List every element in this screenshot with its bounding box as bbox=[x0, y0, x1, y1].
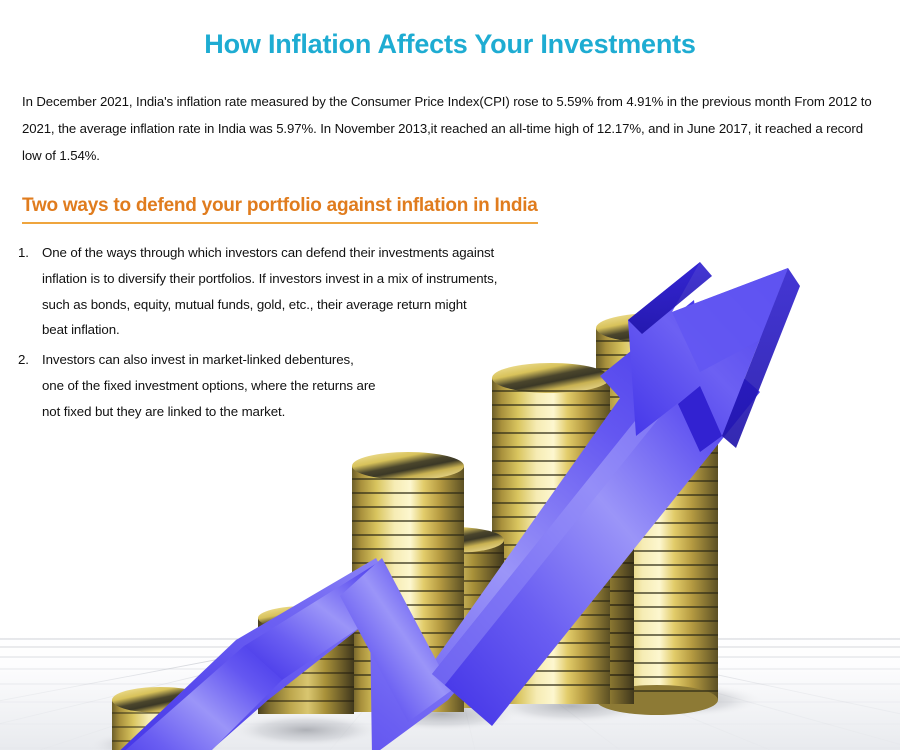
floor-plane bbox=[0, 632, 900, 750]
list-item-marker: 1. bbox=[18, 240, 29, 266]
grid-lines bbox=[0, 634, 900, 750]
intro-paragraph: In December 2021, India's inflation rate… bbox=[0, 60, 900, 169]
list-item-text: One of the ways through which investors … bbox=[42, 240, 640, 344]
content-column: How Inflation Affects Your Investments I… bbox=[0, 0, 900, 425]
coin-stack-4 bbox=[522, 438, 634, 704]
coin-stack-2 bbox=[352, 452, 464, 712]
defense-strategies-list: 1. One of the ways through which investo… bbox=[0, 224, 900, 425]
list-item: 1. One of the ways through which investo… bbox=[0, 240, 640, 344]
section-heading-text: Two ways to defend your portfolio agains… bbox=[22, 195, 538, 224]
floor-group bbox=[0, 632, 900, 750]
list-item: 2. Investors can also invest in market-l… bbox=[0, 347, 640, 425]
coin-stack-2b bbox=[400, 527, 504, 708]
list-item-marker: 2. bbox=[18, 347, 29, 373]
stack-shadows bbox=[86, 682, 766, 750]
coin-stack-1 bbox=[112, 687, 208, 750]
section-heading: Two ways to defend your portfolio agains… bbox=[0, 169, 900, 224]
coin-stack-1b bbox=[258, 606, 354, 714]
infographic-page: How Inflation Affects Your Investments I… bbox=[0, 0, 900, 750]
page-title: How Inflation Affects Your Investments bbox=[0, 0, 900, 60]
list-item-text: Investors can also invest in market-link… bbox=[42, 347, 640, 425]
